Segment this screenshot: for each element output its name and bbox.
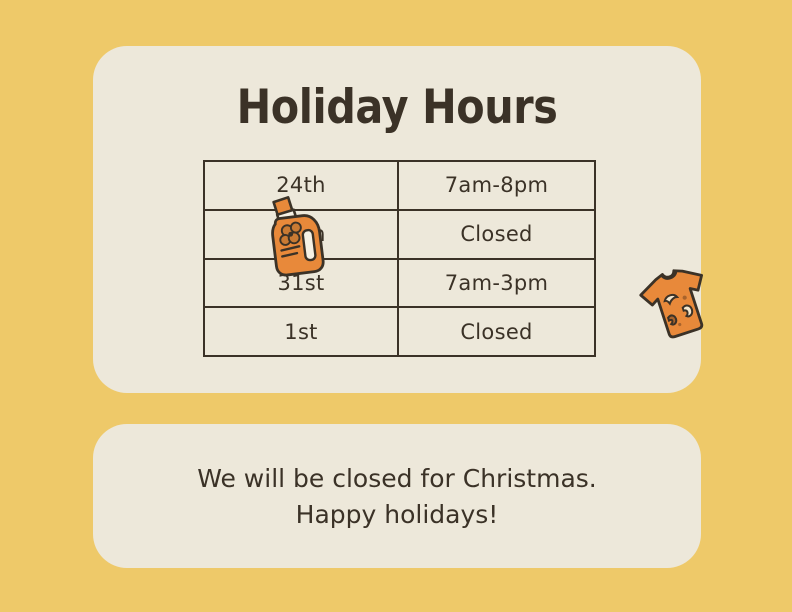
closure-message-line-2: Happy holidays!: [93, 497, 701, 533]
holiday-hours-poster: Holiday Hours 24th 7am-8pm 25th Closed 3…: [0, 0, 792, 612]
table-row: 1st Closed: [204, 307, 595, 356]
tshirt-icon: [639, 262, 717, 344]
page-title: Holiday Hours: [129, 84, 664, 131]
closure-message-line-1: We will be closed for Christmas.: [93, 461, 701, 497]
table-cell-hours: Closed: [398, 307, 595, 356]
hours-card: Holiday Hours 24th 7am-8pm 25th Closed 3…: [93, 46, 701, 393]
table-cell-hours: 7am-8pm: [398, 161, 595, 210]
table-cell-hours: 7am-3pm: [398, 259, 595, 308]
closure-message: We will be closed for Christmas. Happy h…: [93, 461, 701, 534]
message-card: We will be closed for Christmas. Happy h…: [93, 424, 701, 568]
table-cell-hours: Closed: [398, 210, 595, 259]
table-cell-day: 1st: [204, 307, 398, 356]
detergent-bottle-icon: [255, 194, 331, 280]
